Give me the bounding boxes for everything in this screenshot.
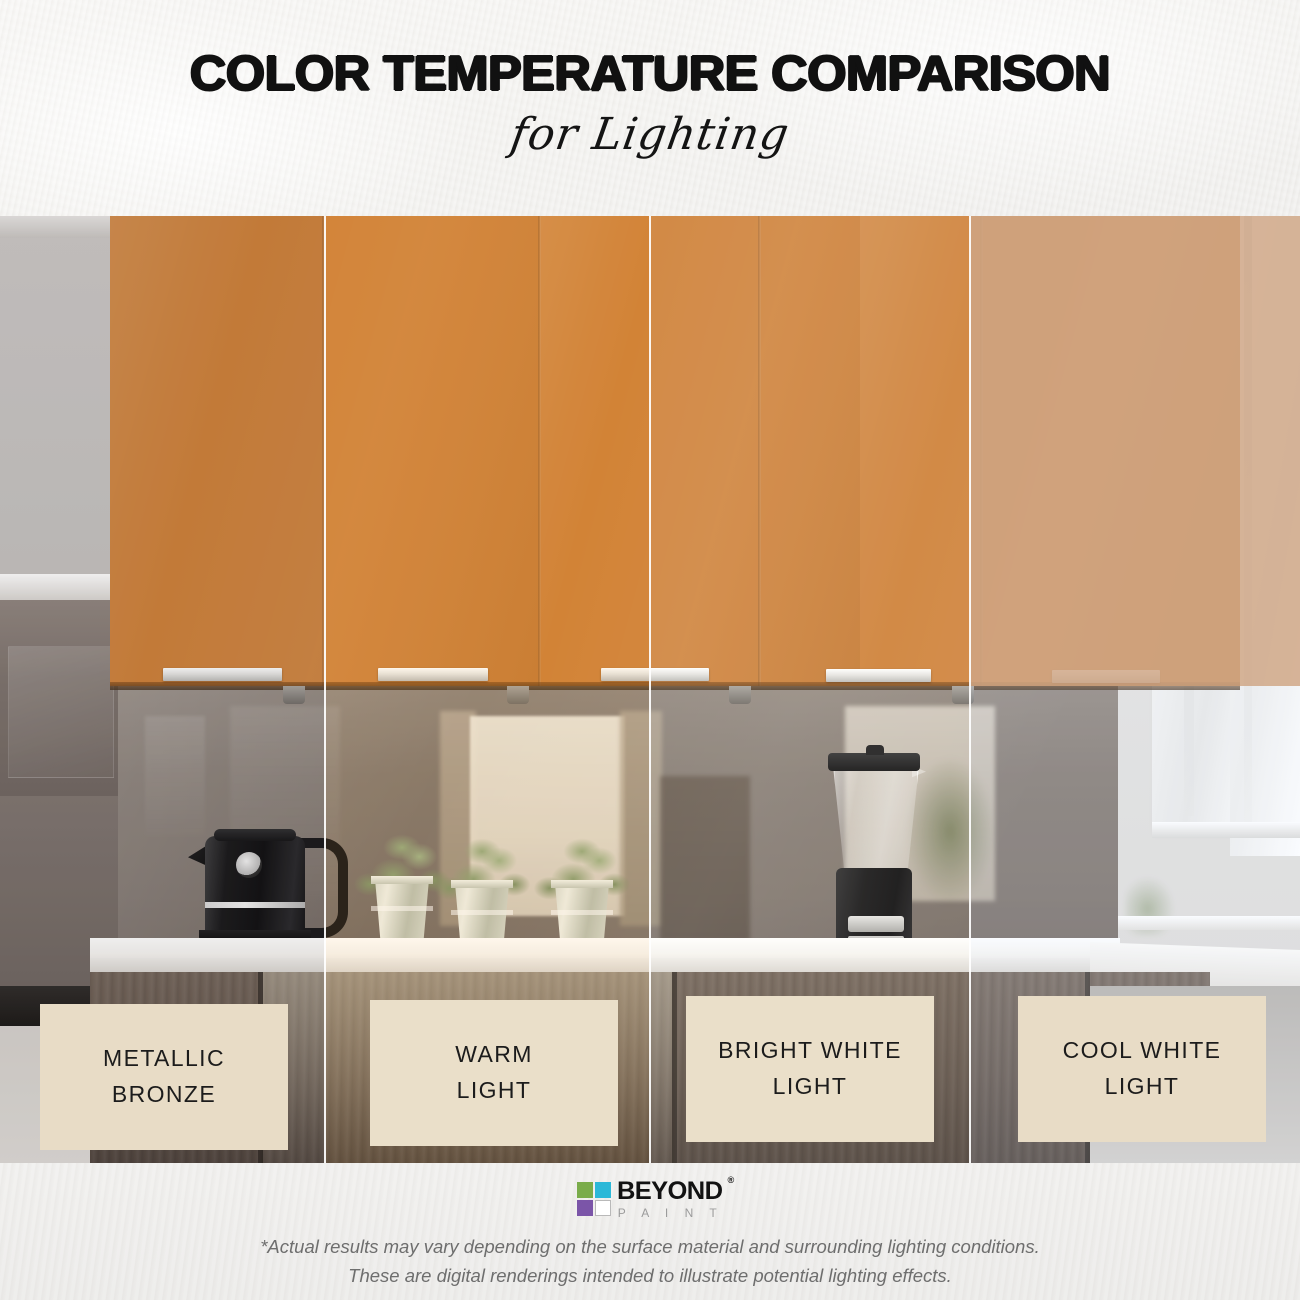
panel-label-line1: COOL WHITE bbox=[1063, 1033, 1222, 1069]
panel-label-bright-white-light: BRIGHT WHITE LIGHT bbox=[686, 996, 934, 1142]
plant-pot-rim bbox=[551, 880, 613, 888]
range-hood-top bbox=[0, 574, 118, 600]
header-banner: COLOR TEMPERATURE COMPARISON for Lightin… bbox=[0, 0, 1300, 216]
brand-logo: BEYOND® P A I N T bbox=[0, 1179, 1300, 1219]
panel-label-line2: LIGHT bbox=[1063, 1069, 1222, 1105]
page-subtitle: for Lighting bbox=[0, 113, 1300, 157]
panel-label-line1: BRIGHT WHITE bbox=[718, 1033, 902, 1069]
header-texture bbox=[0, 0, 1300, 216]
logo-square-green bbox=[577, 1182, 593, 1198]
page-title: COLOR TEMPERATURE COMPARISON bbox=[0, 50, 1300, 99]
logo-square-cyan bbox=[595, 1182, 611, 1198]
plant-pot bbox=[371, 876, 433, 946]
panel-label-line2: BRONZE bbox=[103, 1077, 225, 1113]
curtain-panel-right bbox=[1230, 216, 1300, 856]
logo-swatch-grid bbox=[577, 1182, 611, 1216]
panel-label-warm-light: WARM LIGHT bbox=[370, 1000, 618, 1146]
upper-cabinets bbox=[110, 216, 1240, 686]
plant-pot-band bbox=[451, 910, 513, 915]
left-wall-trim bbox=[0, 216, 118, 238]
blender-lid bbox=[828, 753, 920, 771]
plant-pot-rim bbox=[451, 880, 513, 888]
panel-label-cool-white-light: COOL WHITE LIGHT bbox=[1018, 996, 1266, 1142]
panel-divider bbox=[969, 216, 971, 1163]
plant-pot-band bbox=[551, 910, 613, 915]
lower-cabinet-seam bbox=[672, 972, 677, 1163]
cabinet-door-seam bbox=[980, 216, 983, 686]
curtain-hem bbox=[1152, 822, 1300, 838]
logo-square-purple bbox=[577, 1200, 593, 1216]
curtain-fold-two bbox=[1244, 216, 1252, 836]
disclaimer-line-2: These are digital renderings intended to… bbox=[0, 1262, 1300, 1291]
cabinet-handle bbox=[1052, 670, 1160, 683]
cabinet-support-foot bbox=[729, 686, 751, 704]
cabinet-handle bbox=[826, 669, 931, 682]
logo-square-white bbox=[595, 1200, 611, 1216]
panel-divider bbox=[649, 216, 651, 1163]
panel-label-line2: LIGHT bbox=[455, 1073, 533, 1109]
plant-pot-rim bbox=[371, 876, 433, 884]
cabinet-support-foot bbox=[507, 686, 529, 704]
logo-subbrand: P A I N T bbox=[618, 1207, 723, 1219]
footer: BEYOND® P A I N T *Actual results may va… bbox=[0, 1163, 1300, 1300]
panel-label-metallic-bronze: METALLIC BRONZE bbox=[40, 1004, 288, 1150]
infographic-page: COLOR TEMPERATURE COMPARISON for Lightin… bbox=[0, 0, 1300, 1300]
cabinet-door-seam bbox=[758, 216, 761, 686]
blender-jar bbox=[833, 766, 919, 878]
cabinet-door bbox=[860, 216, 1240, 686]
logo-wordmark: BEYOND® P A I N T bbox=[618, 1179, 723, 1219]
cabinet-support-foot bbox=[283, 686, 305, 704]
cabinet-handle bbox=[378, 668, 488, 681]
window-sill bbox=[1118, 916, 1300, 930]
blender-control-panel bbox=[848, 916, 904, 932]
kettle-lid bbox=[214, 829, 296, 841]
cabinet-handle bbox=[163, 668, 282, 681]
panel-label-line1: METALLIC bbox=[103, 1041, 225, 1077]
kettle-dial bbox=[236, 852, 262, 878]
panel-label-line2: LIGHT bbox=[718, 1069, 902, 1105]
panel-label-line1: WARM bbox=[455, 1037, 533, 1073]
kettle-band bbox=[205, 902, 305, 908]
disclaimer-line-1: *Actual results may vary depending on th… bbox=[0, 1233, 1300, 1262]
kettle-body bbox=[205, 836, 305, 944]
plant-pot-band bbox=[371, 906, 433, 911]
blender-lid-knob bbox=[866, 745, 884, 755]
cabinet-door-seam bbox=[538, 216, 541, 686]
cabinet-handle bbox=[601, 668, 709, 681]
disclaimer-text: *Actual results may vary depending on th… bbox=[0, 1233, 1300, 1290]
cabinet-door bbox=[540, 216, 860, 686]
cabinet-bottom-shadow bbox=[110, 682, 1240, 690]
logo-brand-text: BEYOND bbox=[617, 1177, 722, 1205]
logo-brand-name: BEYOND® bbox=[617, 1179, 725, 1204]
panel-divider bbox=[324, 216, 326, 1163]
registered-mark: ® bbox=[727, 1176, 733, 1185]
range-hood-glass bbox=[8, 646, 114, 778]
